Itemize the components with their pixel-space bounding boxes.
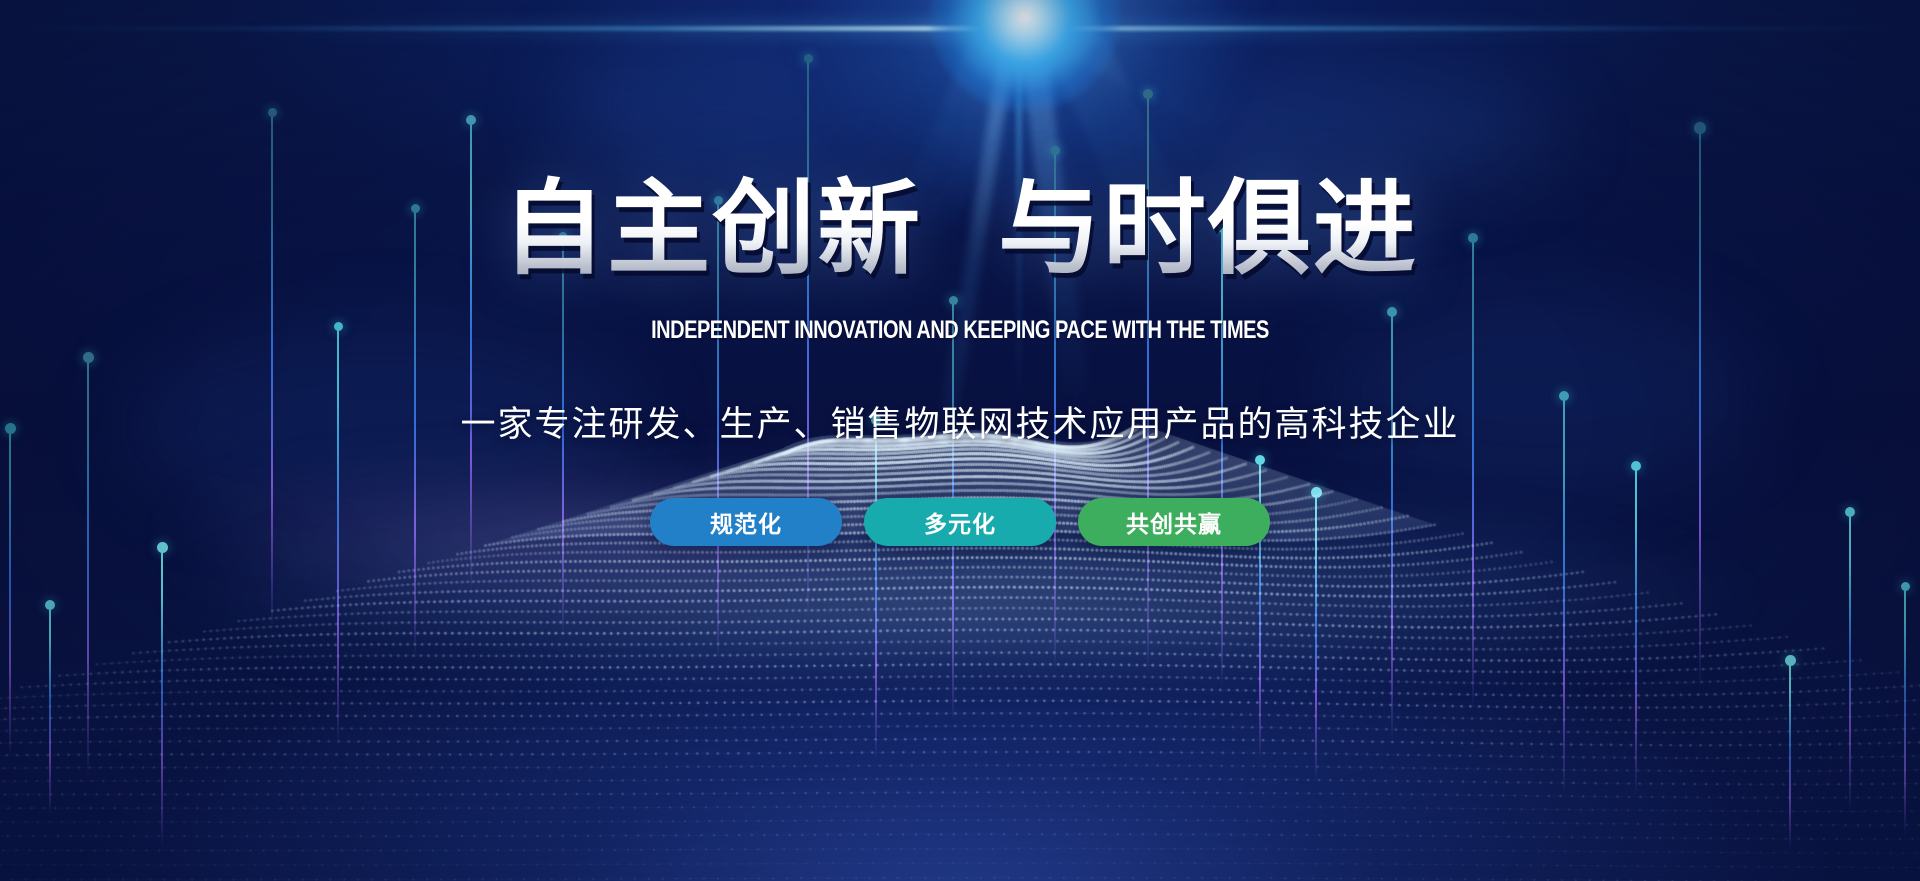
banner-tag-row: 规范化多元化共创共赢: [0, 498, 1920, 546]
banner-tag-1[interactable]: 规范化: [650, 498, 842, 546]
banner-headline: 自主创新 与时俱进: [0, 174, 1920, 285]
banner-subtitle-english: INDEPENDENT INNOVATION AND KEEPING PACE …: [192, 316, 1728, 345]
banner-tag-3[interactable]: 共创共赢: [1078, 498, 1270, 546]
banner-content: 自主创新 与时俱进 INDEPENDENT INNOVATION AND KEE…: [0, 0, 1920, 881]
hero-banner: 自主创新 与时俱进 INDEPENDENT INNOVATION AND KEE…: [0, 0, 1920, 881]
banner-subtitle-chinese: 一家专注研发、生产、销售物联网技术应用产品的高科技企业: [0, 396, 1920, 447]
banner-tag-2[interactable]: 多元化: [864, 498, 1056, 546]
